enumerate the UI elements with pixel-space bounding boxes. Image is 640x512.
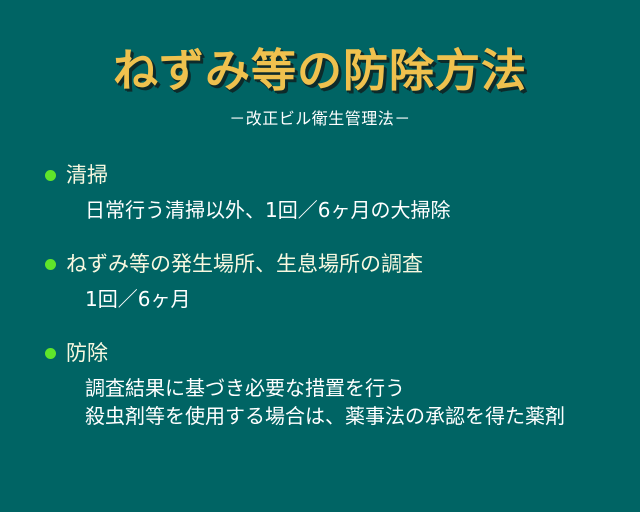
bullet-group: 清掃 日常行う清掃以外、1回／6ヶ月の大掃除 bbox=[0, 160, 640, 224]
bullet-list: 清掃 日常行う清掃以外、1回／6ヶ月の大掃除 ねずみ等の発生場所、生息場所の調査… bbox=[0, 160, 640, 430]
bullet-circle-icon bbox=[45, 259, 56, 270]
bullet-row: ねずみ等の発生場所、生息場所の調査 bbox=[45, 249, 640, 279]
bullet-sub-lines: 1回／6ヶ月 bbox=[45, 285, 640, 313]
bullet-label: ねずみ等の発生場所、生息場所の調査 bbox=[66, 249, 640, 279]
bullet-circle-icon bbox=[45, 170, 56, 181]
bullet-sub-lines: 調査結果に基づき必要な措置を行う 殺虫剤等を使用する場合は、薬事法の承認を得た薬… bbox=[45, 374, 640, 430]
bullet-label: 清掃 bbox=[66, 160, 640, 190]
page-title: ねずみ等の防除方法 bbox=[0, 44, 640, 98]
slide-subtitle: －改正ビル衛生管理法－ bbox=[0, 109, 640, 129]
bullet-sub-line: 殺虫剤等を使用する場合は、薬事法の承認を得た薬剤 bbox=[85, 402, 640, 430]
bullet-circle-icon bbox=[45, 348, 56, 359]
bullet-sub-line: 1回／6ヶ月 bbox=[85, 285, 640, 313]
bullet-sub-line: 日常行う清掃以外、1回／6ヶ月の大掃除 bbox=[85, 196, 640, 224]
title-block: ねずみ等の防除方法 －改正ビル衛生管理法－ bbox=[0, 44, 640, 129]
bullet-label: 防除 bbox=[66, 338, 640, 368]
presentation-slide: ねずみ等の防除方法 －改正ビル衛生管理法－ 清掃 日常行う清掃以外、1回／6ヶ月… bbox=[0, 0, 640, 512]
bullet-sub-line: 調査結果に基づき必要な措置を行う bbox=[85, 374, 640, 402]
bullet-group: ねずみ等の発生場所、生息場所の調査 1回／6ヶ月 bbox=[0, 249, 640, 313]
bullet-sub-lines: 日常行う清掃以外、1回／6ヶ月の大掃除 bbox=[45, 196, 640, 224]
bullet-row: 清掃 bbox=[45, 160, 640, 190]
bullet-group: 防除 調査結果に基づき必要な措置を行う 殺虫剤等を使用する場合は、薬事法の承認を… bbox=[0, 338, 640, 430]
bullet-row: 防除 bbox=[45, 338, 640, 368]
